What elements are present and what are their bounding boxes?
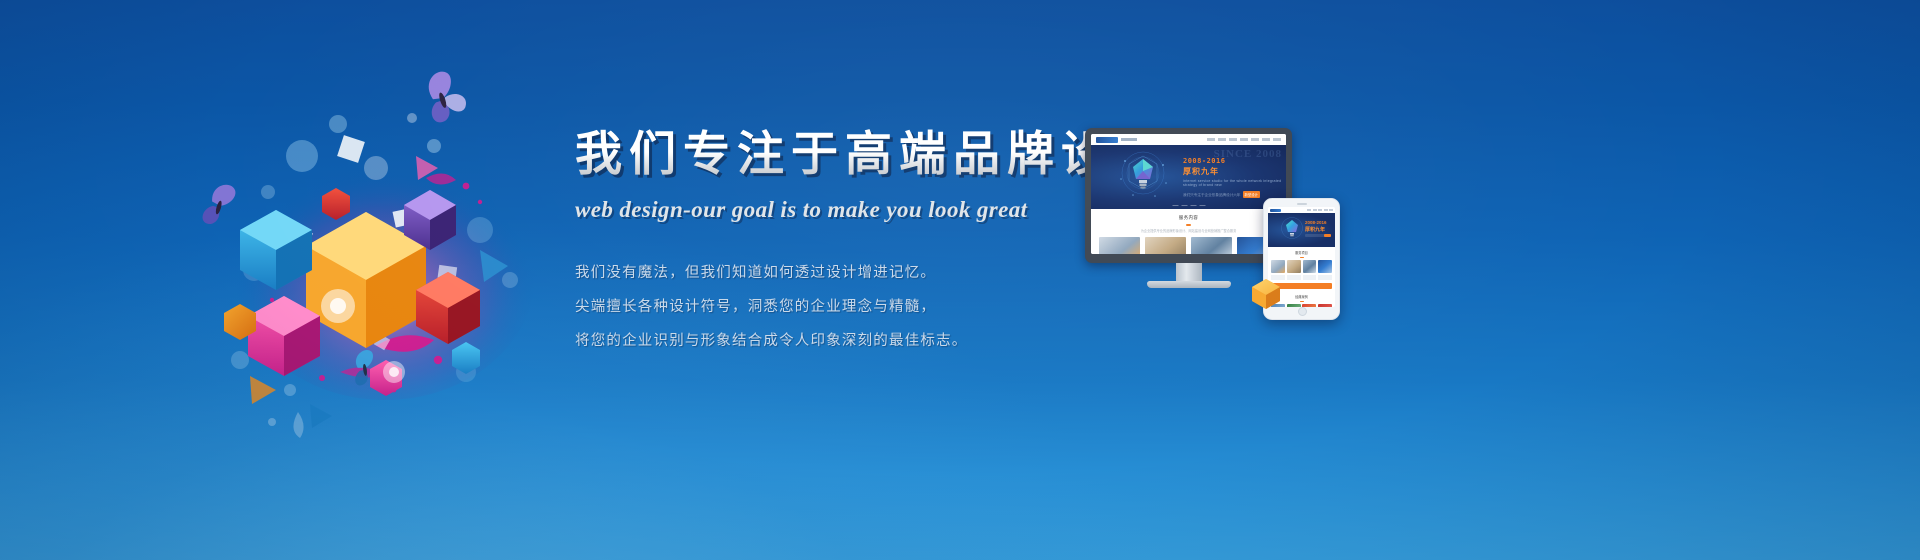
phone-home-button[interactable] bbox=[1298, 307, 1307, 316]
site-menu-item bbox=[1251, 138, 1259, 141]
hero-badge: 新型设计 bbox=[1243, 191, 1261, 198]
site-hero: SINCE 2008 bbox=[1091, 145, 1286, 209]
phone-menu-item bbox=[1313, 209, 1317, 211]
phone-section-divider bbox=[1300, 257, 1304, 259]
desktop-monitor-mockup: SINCE 2008 bbox=[1085, 128, 1292, 263]
hero-carousel-dots[interactable] bbox=[1172, 205, 1205, 207]
phone-menu-item bbox=[1324, 209, 1328, 211]
lightbulb-graphic bbox=[1113, 151, 1175, 203]
banner-copy: 我们专注于高端品牌设计 web design-our goal is to ma… bbox=[575, 128, 1095, 363]
carousel-dot[interactable] bbox=[1181, 205, 1187, 207]
monitor-stand-base bbox=[1147, 281, 1231, 288]
service-thumbnails bbox=[1099, 237, 1278, 254]
phone-menu-item bbox=[1318, 209, 1322, 211]
carousel-dot[interactable] bbox=[1199, 205, 1205, 207]
phone-services-section: 服务项目 bbox=[1268, 247, 1335, 258]
site-menu-item bbox=[1262, 138, 1270, 141]
phone-caption bbox=[1318, 275, 1332, 280]
hero-title: 厚积九年 bbox=[1183, 166, 1286, 177]
body-line: 尖端擅长各种设计符号，洞悉您的企业理念与精髓， bbox=[575, 295, 1095, 320]
phone-case-thumbnail[interactable] bbox=[1318, 304, 1332, 307]
site-logo-text bbox=[1121, 138, 1137, 141]
hero-year-label: 2008-2016 bbox=[1183, 157, 1286, 165]
monitor-bezel: SINCE 2008 bbox=[1085, 128, 1292, 263]
phone-service-thumbnail[interactable] bbox=[1303, 260, 1317, 273]
phone-lightbulb-graphic bbox=[1277, 217, 1307, 243]
phone-caption bbox=[1303, 275, 1317, 280]
phone-caption bbox=[1287, 275, 1301, 280]
carousel-dot[interactable] bbox=[1190, 205, 1196, 207]
butterfly-left bbox=[201, 180, 237, 228]
site-menu-item bbox=[1218, 138, 1226, 141]
site-navbar bbox=[1091, 134, 1286, 145]
phone-hero: 2008-2016 厚积九年 bbox=[1268, 213, 1335, 247]
site-menu-item bbox=[1273, 138, 1281, 141]
hero-banner: 我们专注于高端品牌设计 web design-our goal is to ma… bbox=[0, 0, 1920, 560]
site-logo-icon bbox=[1096, 137, 1118, 143]
phone-service-thumbnail[interactable] bbox=[1318, 260, 1332, 273]
hero-desc-text: 我们只专注于企业形象品牌设计六年 bbox=[1183, 193, 1241, 197]
butterfly-top-right bbox=[420, 67, 470, 124]
phone-service-thumbnail[interactable] bbox=[1287, 260, 1301, 273]
phone-section-divider-2 bbox=[1300, 301, 1304, 303]
phone-hero-year: 2008-2016 bbox=[1305, 220, 1327, 225]
body-text: 我们没有魔法，但我们知道如何透过设计增进记忆。 尖端擅长各种设计符号，洞悉您的企… bbox=[575, 261, 1095, 354]
site-services-section: 服务内容 为企业提供专业的品牌形象设计、网站建设与全网营销推广整合服务 bbox=[1091, 209, 1286, 254]
section-title: 服务内容 bbox=[1099, 215, 1278, 221]
phone-service-thumbnail[interactable] bbox=[1271, 260, 1285, 273]
site-menu-item bbox=[1240, 138, 1248, 141]
body-line: 将您的企业识别与形象结合成令人印象深刻的最佳标志。 bbox=[575, 329, 1095, 354]
service-thumbnail[interactable] bbox=[1099, 237, 1140, 254]
section-description: 为企业提供专业的品牌形象设计、网站建设与全网营销推广整合服务 bbox=[1099, 228, 1278, 233]
service-thumbnail[interactable] bbox=[1145, 237, 1186, 254]
artwork-svg bbox=[180, 60, 600, 440]
service-thumbnail[interactable] bbox=[1191, 237, 1232, 254]
carousel-dot[interactable] bbox=[1172, 205, 1178, 207]
monitor-screen: SINCE 2008 bbox=[1091, 134, 1286, 254]
phone-speaker bbox=[1297, 203, 1307, 205]
phone-site-logo-icon bbox=[1270, 209, 1281, 212]
phone-menu-item bbox=[1307, 209, 1311, 211]
abstract-cubes-artwork bbox=[180, 60, 600, 440]
hero-subtitle: internet service studio for the whole ne… bbox=[1183, 179, 1286, 187]
device-mockups: SINCE 2008 bbox=[1085, 128, 1355, 323]
page-subtitle: web design-our goal is to make you look … bbox=[575, 197, 1095, 223]
site-menu bbox=[1207, 138, 1281, 141]
page-title: 我们专注于高端品牌设计 bbox=[575, 128, 1095, 181]
orange-cube-badge-icon bbox=[1248, 276, 1284, 312]
phone-service-thumbnails bbox=[1268, 260, 1335, 273]
phone-hero-cta[interactable] bbox=[1305, 234, 1331, 237]
site-menu-item bbox=[1229, 138, 1237, 141]
hero-description: 我们只专注于企业形象品牌设计六年新型设计 bbox=[1183, 191, 1286, 198]
phone-section-title: 服务项目 bbox=[1271, 250, 1332, 255]
section-divider bbox=[1186, 224, 1191, 226]
hero-text-block: 2008-2016 厚积九年 internet service studio f… bbox=[1183, 157, 1286, 198]
site-menu-item bbox=[1207, 138, 1215, 141]
website-preview: SINCE 2008 bbox=[1091, 134, 1286, 254]
falling-shapes bbox=[268, 412, 304, 438]
phone-hero-title: 厚积九年 bbox=[1305, 226, 1325, 233]
phone-case-thumbnail[interactable] bbox=[1287, 304, 1301, 307]
body-line: 我们没有魔法，但我们知道如何透过设计增进记忆。 bbox=[575, 261, 1095, 286]
phone-menu-item bbox=[1329, 209, 1333, 211]
phone-menu bbox=[1307, 209, 1333, 211]
